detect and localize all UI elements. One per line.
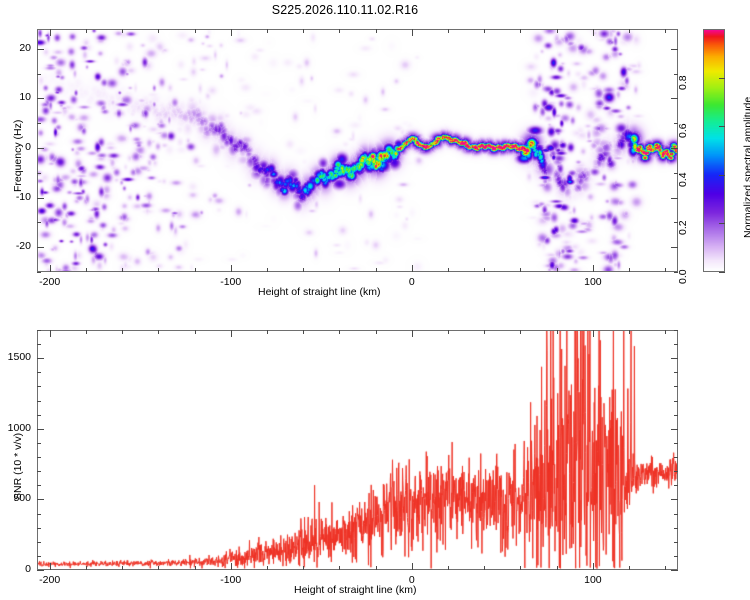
ytick-label: 1500 (0, 351, 31, 363)
xtick-minor-top (520, 330, 521, 334)
xtick-minor (484, 268, 485, 272)
ytick-minor (37, 330, 41, 331)
xtick-minor-top (448, 330, 449, 334)
ytick-minor (37, 386, 41, 387)
xtick-minor (448, 566, 449, 570)
xtick-major-top (593, 29, 594, 36)
xtick-minor-top (339, 330, 340, 334)
ytick-minor (37, 485, 41, 486)
xtick-minor (158, 268, 159, 272)
xtick-minor-top (195, 29, 196, 33)
xtick-minor-top (195, 330, 196, 334)
xtick-major-top (412, 29, 413, 36)
xtick-minor (339, 268, 340, 272)
xtick-label: 100 (565, 574, 621, 586)
colorbar-tick-label: 0.6 (677, 124, 689, 139)
ytick-label: 10 (0, 91, 31, 103)
ytick-major-right (671, 49, 678, 50)
snr-xlabel: Height of straight line (km) (294, 584, 417, 596)
xtick-minor-top (267, 29, 268, 33)
xtick-label: -200 (22, 574, 78, 586)
xtick-major (412, 265, 413, 272)
xtick-minor-top (303, 29, 304, 33)
ytick-minor-right (674, 457, 678, 458)
xtick-minor-top (86, 330, 87, 334)
xtick-minor (122, 268, 123, 272)
ytick-major (37, 148, 44, 149)
ytick-major (37, 49, 44, 50)
ytick-minor (37, 222, 41, 223)
colorbar-tick (719, 175, 725, 176)
xtick-label: -100 (203, 574, 259, 586)
ytick-minor-right (674, 401, 678, 402)
xtick-minor-top (86, 29, 87, 33)
xtick-major-top (231, 330, 232, 337)
ytick-minor (37, 272, 41, 273)
xtick-minor-top (267, 330, 268, 334)
xtick-minor (520, 566, 521, 570)
xtick-minor-top (158, 29, 159, 33)
colorbar-tick (719, 126, 725, 127)
ytick-major (37, 247, 44, 248)
ytick-minor (37, 401, 41, 402)
ytick-minor-right (674, 372, 678, 373)
ytick-major-right (671, 148, 678, 149)
xtick-minor (86, 268, 87, 272)
xtick-minor-top (339, 29, 340, 33)
xtick-minor-top (158, 330, 159, 334)
ytick-minor (37, 173, 41, 174)
ytick-major (37, 499, 44, 500)
ytick-major (37, 358, 44, 359)
ytick-minor-right (674, 485, 678, 486)
ytick-minor (37, 471, 41, 472)
xtick-minor-top (484, 29, 485, 33)
xtick-minor (629, 268, 630, 272)
ytick-minor (37, 415, 41, 416)
ytick-label: 20 (0, 42, 31, 54)
ytick-minor (37, 542, 41, 543)
ytick-major (37, 570, 44, 571)
figure-root: S225.2026.110.11.02.R16 -200-1000100-20-… (0, 0, 750, 600)
xtick-major (231, 265, 232, 272)
colorbar-label: Normalized spectral amplitude (742, 97, 750, 238)
xtick-major (593, 563, 594, 570)
ytick-minor (37, 443, 41, 444)
xtick-minor-top (484, 330, 485, 334)
xtick-minor-top (448, 29, 449, 33)
ytick-major-right (671, 247, 678, 248)
snr-panel (37, 330, 678, 570)
xtick-minor (629, 566, 630, 570)
snr-ylabel: SNR (10 * v/v) (12, 433, 24, 500)
colorbar-tick-label: 0.0 (677, 269, 689, 284)
ytick-minor (37, 74, 41, 75)
colorbar (703, 29, 725, 272)
xtick-minor (267, 566, 268, 570)
xtick-major-top (412, 330, 413, 337)
xtick-minor (665, 268, 666, 272)
ytick-minor-right (674, 471, 678, 472)
ytick-minor-right (674, 514, 678, 515)
ytick-minor (37, 528, 41, 529)
xtick-minor (665, 566, 666, 570)
figure-title: S225.2026.110.11.02.R16 (0, 3, 690, 17)
xtick-major-top (593, 330, 594, 337)
ytick-minor (37, 457, 41, 458)
xtick-label: 0 (384, 276, 440, 288)
xtick-minor-top (303, 330, 304, 334)
xtick-minor (86, 566, 87, 570)
ytick-minor-right (674, 556, 678, 557)
xtick-major (50, 563, 51, 570)
colorbar-tick (719, 223, 725, 224)
ytick-minor-right (674, 330, 678, 331)
spectrogram-xlabel: Height of straight line (km) (258, 286, 381, 298)
xtick-minor (195, 268, 196, 272)
ytick-minor-right (674, 542, 678, 543)
ytick-major-right (671, 358, 678, 359)
ytick-minor-right (674, 344, 678, 345)
ytick-label: 0 (0, 563, 31, 575)
xtick-minor-top (629, 29, 630, 33)
xtick-minor (484, 566, 485, 570)
ytick-label: -10 (0, 191, 31, 203)
xtick-label: -100 (203, 276, 259, 288)
xtick-major (231, 563, 232, 570)
xtick-major-top (231, 29, 232, 36)
xtick-minor (158, 566, 159, 570)
ytick-major-right (671, 499, 678, 500)
spectrogram-ylabel: Frequency (Hz) (12, 120, 24, 192)
xtick-minor-top (376, 330, 377, 334)
colorbar-gradient (704, 30, 724, 271)
xtick-major-top (50, 29, 51, 36)
xtick-minor-top (376, 29, 377, 33)
xtick-minor-top (665, 330, 666, 334)
xtick-minor-top (122, 29, 123, 33)
ytick-minor-right (674, 528, 678, 529)
colorbar-tick-label: 0.4 (677, 172, 689, 187)
ytick-minor-right (674, 415, 678, 416)
xtick-minor (557, 268, 558, 272)
ytick-major (37, 198, 44, 199)
xtick-minor (122, 566, 123, 570)
xtick-minor (267, 268, 268, 272)
ytick-major-right (671, 98, 678, 99)
ytick-minor (37, 514, 41, 515)
xtick-minor-top (665, 29, 666, 33)
ytick-major-right (671, 198, 678, 199)
ytick-major-right (671, 570, 678, 571)
ytick-label: -20 (0, 240, 31, 252)
xtick-minor (303, 268, 304, 272)
colorbar-tick (719, 272, 725, 273)
ytick-minor (37, 344, 41, 345)
xtick-label: 100 (565, 276, 621, 288)
ytick-minor-right (674, 443, 678, 444)
xtick-minor-top (520, 29, 521, 33)
xtick-major (412, 563, 413, 570)
xtick-minor (376, 566, 377, 570)
xtick-minor (376, 268, 377, 272)
spectrogram-panel (37, 29, 678, 272)
ytick-minor-right (674, 386, 678, 387)
colorbar-tick (719, 78, 725, 79)
xtick-label: -200 (22, 276, 78, 288)
colorbar-tick-label: 0.8 (677, 75, 689, 90)
ytick-major-right (671, 429, 678, 430)
xtick-minor (557, 566, 558, 570)
xtick-major (50, 265, 51, 272)
ytick-major (37, 429, 44, 430)
snr-trace (38, 331, 677, 569)
xtick-minor-top (557, 29, 558, 33)
spectrogram-image (38, 30, 677, 271)
xtick-minor-top (629, 330, 630, 334)
xtick-minor (339, 566, 340, 570)
xtick-minor (520, 268, 521, 272)
xtick-minor-top (557, 330, 558, 334)
xtick-minor-top (122, 330, 123, 334)
ytick-major (37, 98, 44, 99)
xtick-minor (195, 566, 196, 570)
colorbar-tick-label: 0.2 (677, 221, 689, 236)
xtick-minor (303, 566, 304, 570)
xtick-minor (448, 268, 449, 272)
xtick-major (593, 265, 594, 272)
ytick-minor (37, 372, 41, 373)
ytick-minor (37, 556, 41, 557)
xtick-major-top (50, 330, 51, 337)
ytick-minor (37, 123, 41, 124)
